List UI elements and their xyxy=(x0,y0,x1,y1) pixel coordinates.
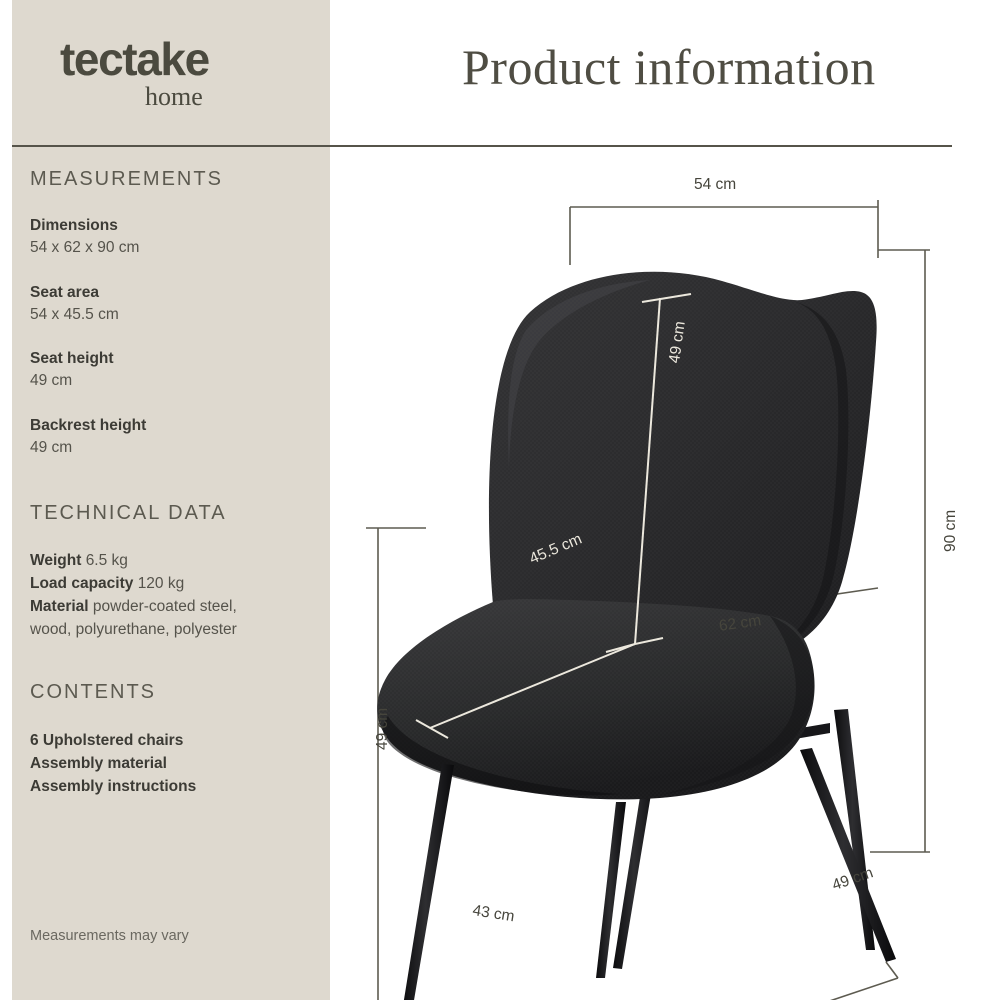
contents-item: 6 Upholstered chairs xyxy=(30,729,322,752)
dimension-label-total-height: 90 cm xyxy=(942,510,960,552)
measurement-label: Seat area xyxy=(30,282,320,304)
technical-label: Weight xyxy=(30,552,81,569)
technical-value: wood, polyurethane, polyester xyxy=(30,621,237,638)
measurement-label: Dimensions xyxy=(30,215,320,237)
technical-label: Load capacity xyxy=(30,575,133,592)
page-title: Product information xyxy=(462,38,876,96)
measurement-value: 54 x 45.5 cm xyxy=(30,304,320,326)
technical-material: Material powder-coated steel, xyxy=(30,595,322,618)
brand-name: tectake xyxy=(60,36,209,82)
brand-tagline: home xyxy=(60,84,203,110)
footnote-measurements-vary: Measurements may vary xyxy=(30,928,189,944)
contents-item: Assembly material xyxy=(30,752,322,775)
measurement-backrest-height: Backrest height 49 cm xyxy=(30,415,320,460)
technical-value: powder-coated steel, xyxy=(93,598,237,615)
brand-logo: tectake home xyxy=(60,36,209,110)
section-heading-measurements: MEASUREMENTS xyxy=(30,168,223,191)
measurement-label: Seat height xyxy=(30,348,320,370)
technical-material-cont: wood, polyurethane, polyester xyxy=(30,618,322,641)
dimension-label-seat-height: 49 cm xyxy=(374,708,392,750)
measurement-dimensions: Dimensions 54 x 62 x 90 cm xyxy=(30,215,320,260)
technical-value: 120 kg xyxy=(138,575,185,592)
technical-value: 6.5 kg xyxy=(86,552,128,569)
measurement-seat-height: Seat height 49 cm xyxy=(30,348,320,393)
measurement-seat-area: Seat area 54 x 45.5 cm xyxy=(30,282,320,327)
measurement-value: 54 x 62 x 90 cm xyxy=(30,237,320,259)
section-heading-contents: CONTENTS xyxy=(30,681,156,704)
contents-item: Assembly instructions xyxy=(30,775,322,798)
technical-load-capacity: Load capacity 120 kg xyxy=(30,572,322,595)
header-divider xyxy=(12,145,952,147)
technical-label: Material xyxy=(30,598,89,615)
section-heading-technical-data: TECHNICAL DATA xyxy=(30,502,227,525)
dimension-label-width-top: 54 cm xyxy=(694,176,736,194)
sidebar: tectake home MEASUREMENTS Dimensions 54 … xyxy=(12,0,330,1000)
measurement-value: 49 cm xyxy=(30,437,320,459)
technical-weight: Weight 6.5 kg xyxy=(30,549,322,572)
measurement-value: 49 cm xyxy=(30,370,320,392)
measurement-label: Backrest height xyxy=(30,415,320,437)
product-diagram: 54 cm 49 cm 45.5 cm 90 cm 62 cm 49 cm 43… xyxy=(330,150,1000,1000)
